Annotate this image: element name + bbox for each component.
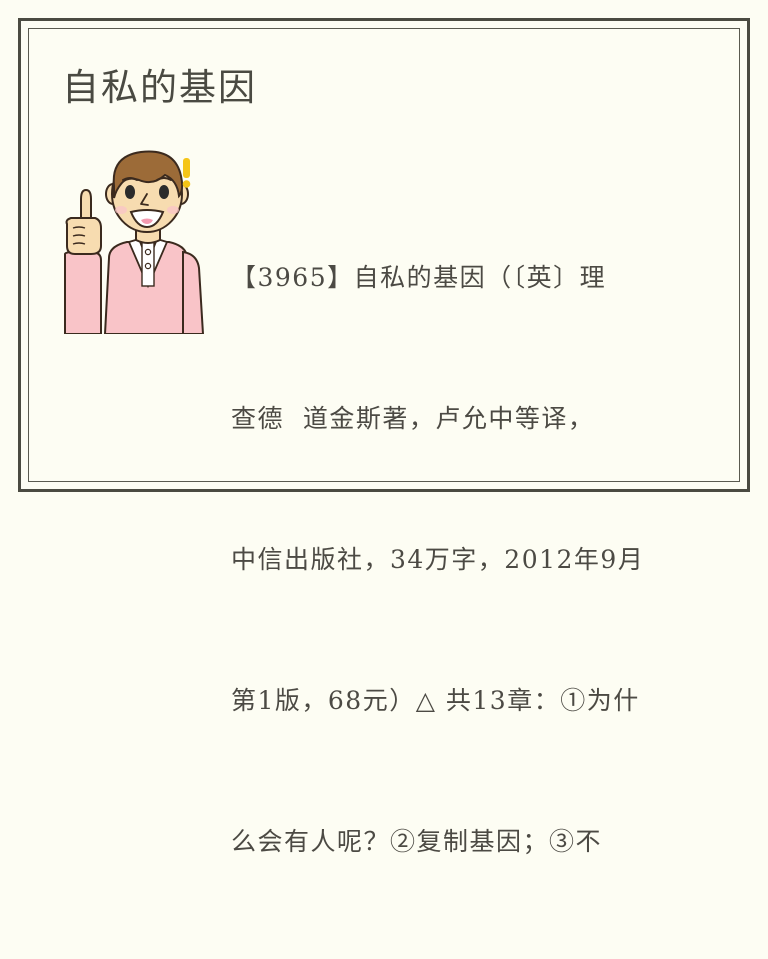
left-sleeve: [65, 252, 101, 334]
text-line: 么会有人呢？②复制基因；③不: [231, 818, 651, 865]
exclamation-icon: [183, 158, 191, 188]
text-line: 查德 道金斯著，卢允中等译，: [231, 395, 651, 442]
text-line: 【3965】自私的基因（〔英〕理: [231, 254, 651, 301]
book-entry-text: 【3965】自私的基因（〔英〕理 查德 道金斯著，卢允中等译， 中信出版社，34…: [231, 160, 651, 959]
pointing-person-illustration: [57, 142, 215, 334]
left-eye: [125, 185, 135, 199]
right-eye: [159, 185, 169, 199]
book-entry-card: 自私的基因: [0, 0, 768, 510]
text-line: 中信出版社，34万字，2012年9月: [231, 536, 651, 583]
page-title: 自私的基因: [62, 64, 257, 112]
text-line: 第1版，68元）△ 共13章：①为什: [231, 677, 651, 724]
